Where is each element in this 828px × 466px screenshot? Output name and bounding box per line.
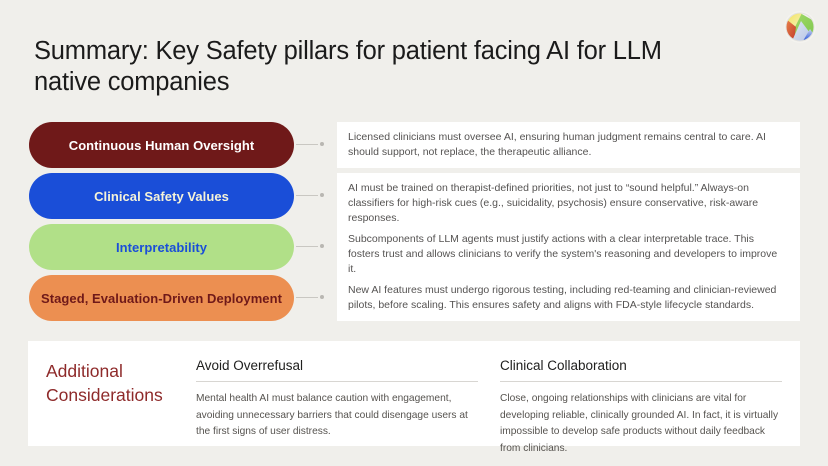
additional-column-avoid-overrefusal: Avoid Overrefusal Mental health AI must … xyxy=(196,357,500,432)
pillar-description-card: New AI features must undergo rigorous te… xyxy=(337,275,800,321)
pillar-label: Continuous Human Oversight xyxy=(69,138,254,153)
additional-column-title: Avoid Overrefusal xyxy=(196,357,478,374)
pillar-pill-continuous-human-oversight[interactable]: Continuous Human Oversight xyxy=(29,122,294,168)
additional-considerations-heading: Additional Considerations xyxy=(46,357,196,432)
pillar-label: Staged, Evaluation-Driven Deployment xyxy=(41,291,282,306)
connector-line xyxy=(296,195,318,196)
connector-dot-icon xyxy=(320,142,324,146)
connector-line xyxy=(296,246,318,247)
connector-dot-icon xyxy=(320,244,324,248)
connector-dot-icon xyxy=(320,295,324,299)
pillar-description: AI must be trained on therapist-defined … xyxy=(348,181,788,226)
additional-column-title: Clinical Collaboration xyxy=(500,357,782,374)
divider xyxy=(500,381,782,382)
pillar-label: Clinical Safety Values xyxy=(94,189,229,204)
pillar-description: New AI features must undergo rigorous te… xyxy=(348,283,788,313)
pillar-pill-clinical-safety-values[interactable]: Clinical Safety Values xyxy=(29,173,294,219)
additional-considerations-panel: Additional Considerations Avoid Overrefu… xyxy=(28,341,800,446)
pillar-row: Interpretability Subcomponents of LLM ag… xyxy=(0,224,828,270)
pillar-description: Subcomponents of LLM agents must justify… xyxy=(348,232,788,277)
pillar-label: Interpretability xyxy=(116,240,207,255)
slide-canvas: Summary: Key Safety pillars for patient … xyxy=(0,0,828,466)
pillar-pill-interpretability[interactable]: Interpretability xyxy=(29,224,294,270)
additional-column-body: Close, ongoing relationships with clinic… xyxy=(500,391,782,457)
additional-column-body: Mental health AI must balance caution wi… xyxy=(196,391,478,441)
divider xyxy=(196,381,478,382)
pillar-row: Clinical Safety Values AI must be traine… xyxy=(0,173,828,219)
connector-line xyxy=(296,297,318,298)
connector-dot-icon xyxy=(320,193,324,197)
connector-line xyxy=(296,144,318,145)
pillar-description: Licensed clinicians must oversee AI, ens… xyxy=(348,130,788,160)
pillar-row: Staged, Evaluation-Driven Deployment New… xyxy=(0,275,828,321)
additional-column-clinical-collaboration: Clinical Collaboration Close, ongoing re… xyxy=(500,357,782,432)
pillar-description-card: Licensed clinicians must oversee AI, ens… xyxy=(337,122,800,168)
pillar-pill-staged-evaluation-driven-deployment[interactable]: Staged, Evaluation-Driven Deployment xyxy=(29,275,294,321)
pillar-row: Continuous Human Oversight Licensed clin… xyxy=(0,122,828,168)
prism-sphere-logo-icon xyxy=(784,11,816,43)
page-title: Summary: Key Safety pillars for patient … xyxy=(34,36,714,98)
